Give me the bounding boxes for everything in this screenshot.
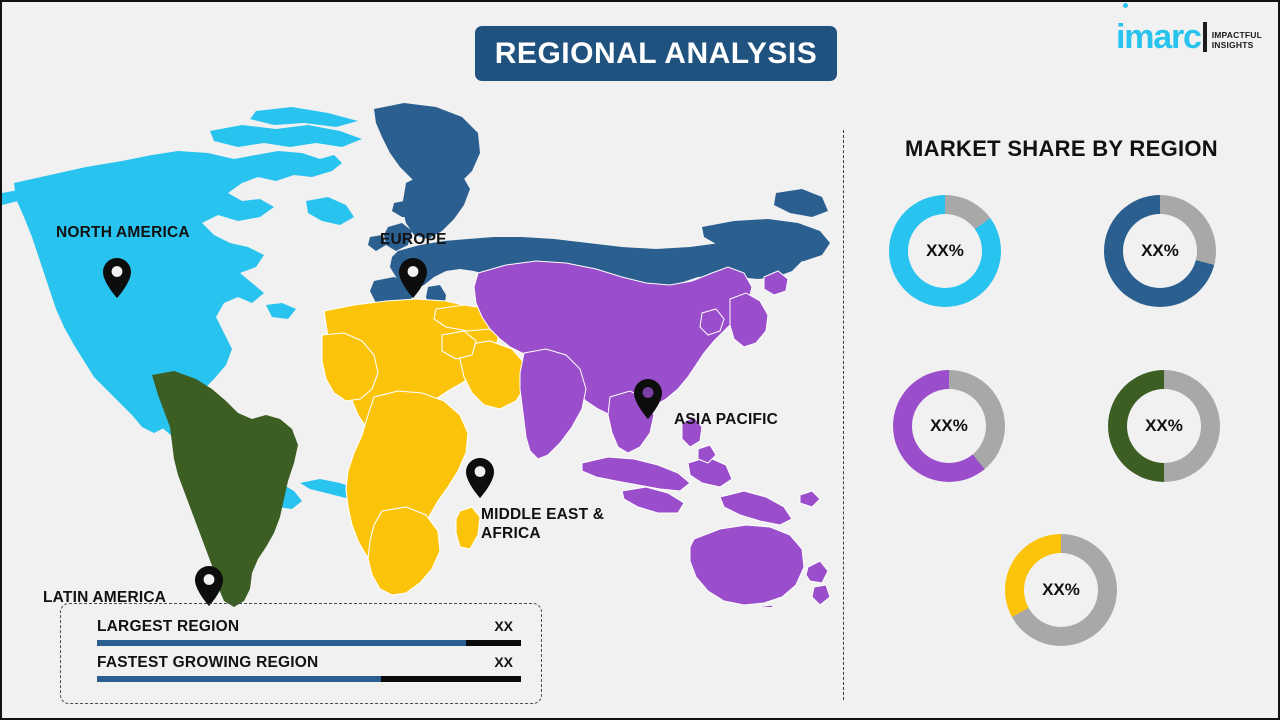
- donut-chart-middle-east-africa: XX%: [1005, 534, 1117, 646]
- kpi-track-fastest-growing-region: [97, 676, 521, 682]
- world-map: NORTH AMERICA EUROPE ASIA PACIFIC MIDDLE…: [2, 97, 832, 607]
- regional-analysis-slide: REGIONAL ANALYSIS imarc IMPACTFUL INSIGH…: [0, 0, 1280, 720]
- donut-hole-latin-america: XX%: [1127, 389, 1201, 463]
- map-region-latin-america: [152, 371, 298, 607]
- kpi-row-fastest-growing-region: FASTEST GROWING REGION XX: [97, 654, 521, 682]
- kpi-track-largest-region: [97, 640, 521, 646]
- donut-chart-asia-pacific: XX%: [893, 370, 1005, 482]
- donut-value-europe: XX%: [1141, 241, 1179, 261]
- donut-chart-north-america: XX%: [889, 195, 1001, 307]
- kpi-row-largest-region: LARGEST REGION XX: [97, 618, 521, 646]
- market-share-panel-title: MARKET SHARE BY REGION: [843, 136, 1280, 162]
- donut-hole-middle-east-africa: XX%: [1024, 553, 1098, 627]
- kpi-fill-fastest-growing-region: [97, 676, 381, 682]
- world-map-svg: [2, 97, 832, 607]
- logo-tagline-line1: IMPACTFUL: [1212, 30, 1262, 41]
- map-pin-europe-icon: [398, 257, 428, 299]
- donut-value-asia-pacific: XX%: [930, 416, 968, 436]
- kpi-legend-box: LARGEST REGION XX FASTEST GROWING REGION…: [60, 603, 542, 704]
- map-region-asia-pacific: [474, 261, 830, 607]
- map-label-north-america: NORTH AMERICA: [56, 223, 190, 242]
- map-label-middle-east-africa: MIDDLE EAST & AFRICA: [481, 505, 604, 544]
- donut-hole-north-america: XX%: [908, 214, 982, 288]
- donut-value-north-america: XX%: [926, 241, 964, 261]
- logo-dot-icon: [1123, 3, 1128, 8]
- logo-tagline: IMPACTFUL INSIGHTS: [1212, 30, 1262, 54]
- logo-tagline-line2: INSIGHTS: [1212, 40, 1262, 51]
- donut-hole-asia-pacific: XX%: [912, 389, 986, 463]
- map-pin-middle-east-africa-icon: [465, 457, 495, 499]
- kpi-value-fastest-growing-region: XX: [494, 654, 521, 670]
- imarc-logo: imarc IMPACTFUL INSIGHTS: [1116, 12, 1262, 54]
- donut-chart-europe: XX%: [1104, 195, 1216, 307]
- donut-value-middle-east-africa: XX%: [1042, 580, 1080, 600]
- panel-divider: [843, 130, 844, 700]
- map-pin-latin-america-icon: [194, 565, 224, 607]
- kpi-value-largest-region: XX: [494, 618, 521, 634]
- kpi-label-fastest-growing-region: FASTEST GROWING REGION: [97, 654, 318, 672]
- donut-chart-latin-america: XX%: [1108, 370, 1220, 482]
- kpi-fill-largest-region: [97, 640, 466, 646]
- map-pin-north-america-icon: [102, 257, 132, 299]
- map-pin-asia-pacific-icon: [633, 378, 663, 420]
- map-label-europe: EUROPE: [380, 230, 447, 249]
- logo-wordmark: imarc: [1116, 20, 1201, 54]
- map-label-asia-pacific: ASIA PACIFIC: [674, 410, 778, 429]
- donut-value-latin-america: XX%: [1145, 416, 1183, 436]
- map-region-middle-east-africa: [322, 299, 526, 595]
- kpi-label-largest-region: LARGEST REGION: [97, 618, 239, 636]
- page-title: REGIONAL ANALYSIS: [495, 37, 817, 71]
- logo-divider-bar: [1203, 22, 1207, 52]
- page-title-banner: REGIONAL ANALYSIS: [475, 26, 837, 81]
- donut-hole-europe: XX%: [1123, 214, 1197, 288]
